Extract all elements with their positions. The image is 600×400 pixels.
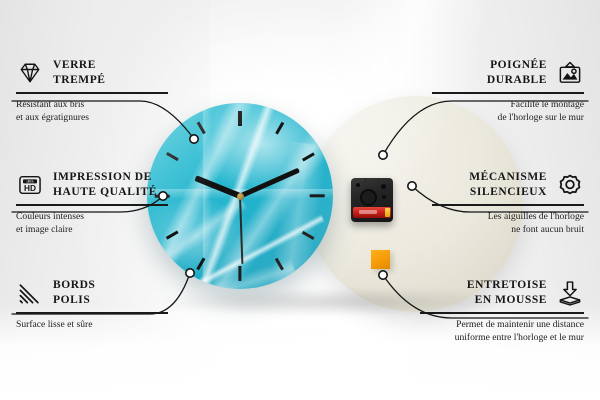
feature-title: Poignée durable	[487, 58, 547, 87]
feature-description: Facilite le montage de l'horloge sur le …	[432, 98, 584, 124]
feature-description: Permet de maintenir une distance uniform…	[420, 318, 584, 344]
feature-description: Résistant aux bris et aux égratignures	[16, 98, 168, 124]
press-down-pad-icon	[556, 279, 584, 307]
feature-description: Couleurs intenses et image claire	[16, 210, 168, 236]
clock-glass-sheen	[147, 103, 333, 289]
feature-mecanisme-silencieux: Mécanisme silencieux Les aiguilles de l'…	[432, 170, 584, 236]
feature-poignee-durable: Poignée durable Facilite le montage de l…	[432, 58, 584, 124]
diamond-icon	[16, 59, 44, 87]
feature-header: Entretoise en mousse	[420, 278, 584, 307]
polished-edge-icon	[16, 279, 44, 307]
mechanism-dot	[356, 183, 360, 187]
battery-label-stripe	[359, 210, 377, 214]
feature-divider	[16, 312, 168, 313]
gear-icon	[556, 171, 584, 199]
feature-impression-haute-qualite: ultra HD Impression de haute qualité Cou…	[16, 170, 168, 236]
mechanism-battery	[353, 207, 391, 218]
feature-divider	[432, 204, 584, 205]
feature-divider	[16, 204, 168, 205]
feature-description: Surface lisse et sûre	[16, 318, 168, 331]
feature-divider	[420, 312, 584, 313]
feature-entretoise-en-mousse: Entretoise en mousse Permet de maintenir…	[420, 278, 584, 344]
feature-header: Verre trempé	[16, 58, 168, 87]
feature-divider	[16, 92, 168, 93]
feature-header: ultra HD Impression de haute qualité	[16, 170, 168, 199]
mechanism-dot	[382, 195, 386, 199]
feature-header: Bords polis	[16, 278, 168, 307]
wall-clock-face	[147, 103, 333, 289]
feature-verre-trempe: Verre trempé Résistant aux bris et aux é…	[16, 58, 168, 124]
feature-title: Mécanisme silencieux	[469, 170, 547, 199]
feature-title: Entretoise en mousse	[467, 278, 547, 307]
feature-bords-polis: Bords polis Surface lisse et sûre	[16, 278, 168, 331]
product-infographic: Verre trempé Résistant aux bris et aux é…	[0, 0, 600, 400]
feature-header: Poignée durable	[432, 58, 584, 87]
ultra-hd-icon-main-text: HD	[24, 183, 36, 193]
mechanism-shaft-ring	[360, 189, 377, 206]
feature-title: Bords polis	[53, 278, 95, 307]
feature-header: Mécanisme silencieux	[432, 170, 584, 199]
quartz-mechanism	[351, 178, 393, 222]
feature-description: Les aiguilles de l'horloge ne font aucun…	[432, 210, 584, 236]
mechanism-dot	[381, 184, 386, 189]
mechanism-hanger-tab	[365, 178, 380, 183]
feature-title: Impression de haute qualité	[53, 170, 157, 199]
feature-divider	[432, 92, 584, 93]
foam-spacer	[371, 250, 390, 269]
ultra-hd-icon: ultra HD	[16, 171, 44, 199]
feature-title: Verre trempé	[53, 58, 106, 87]
picture-hanger-icon	[556, 59, 584, 87]
